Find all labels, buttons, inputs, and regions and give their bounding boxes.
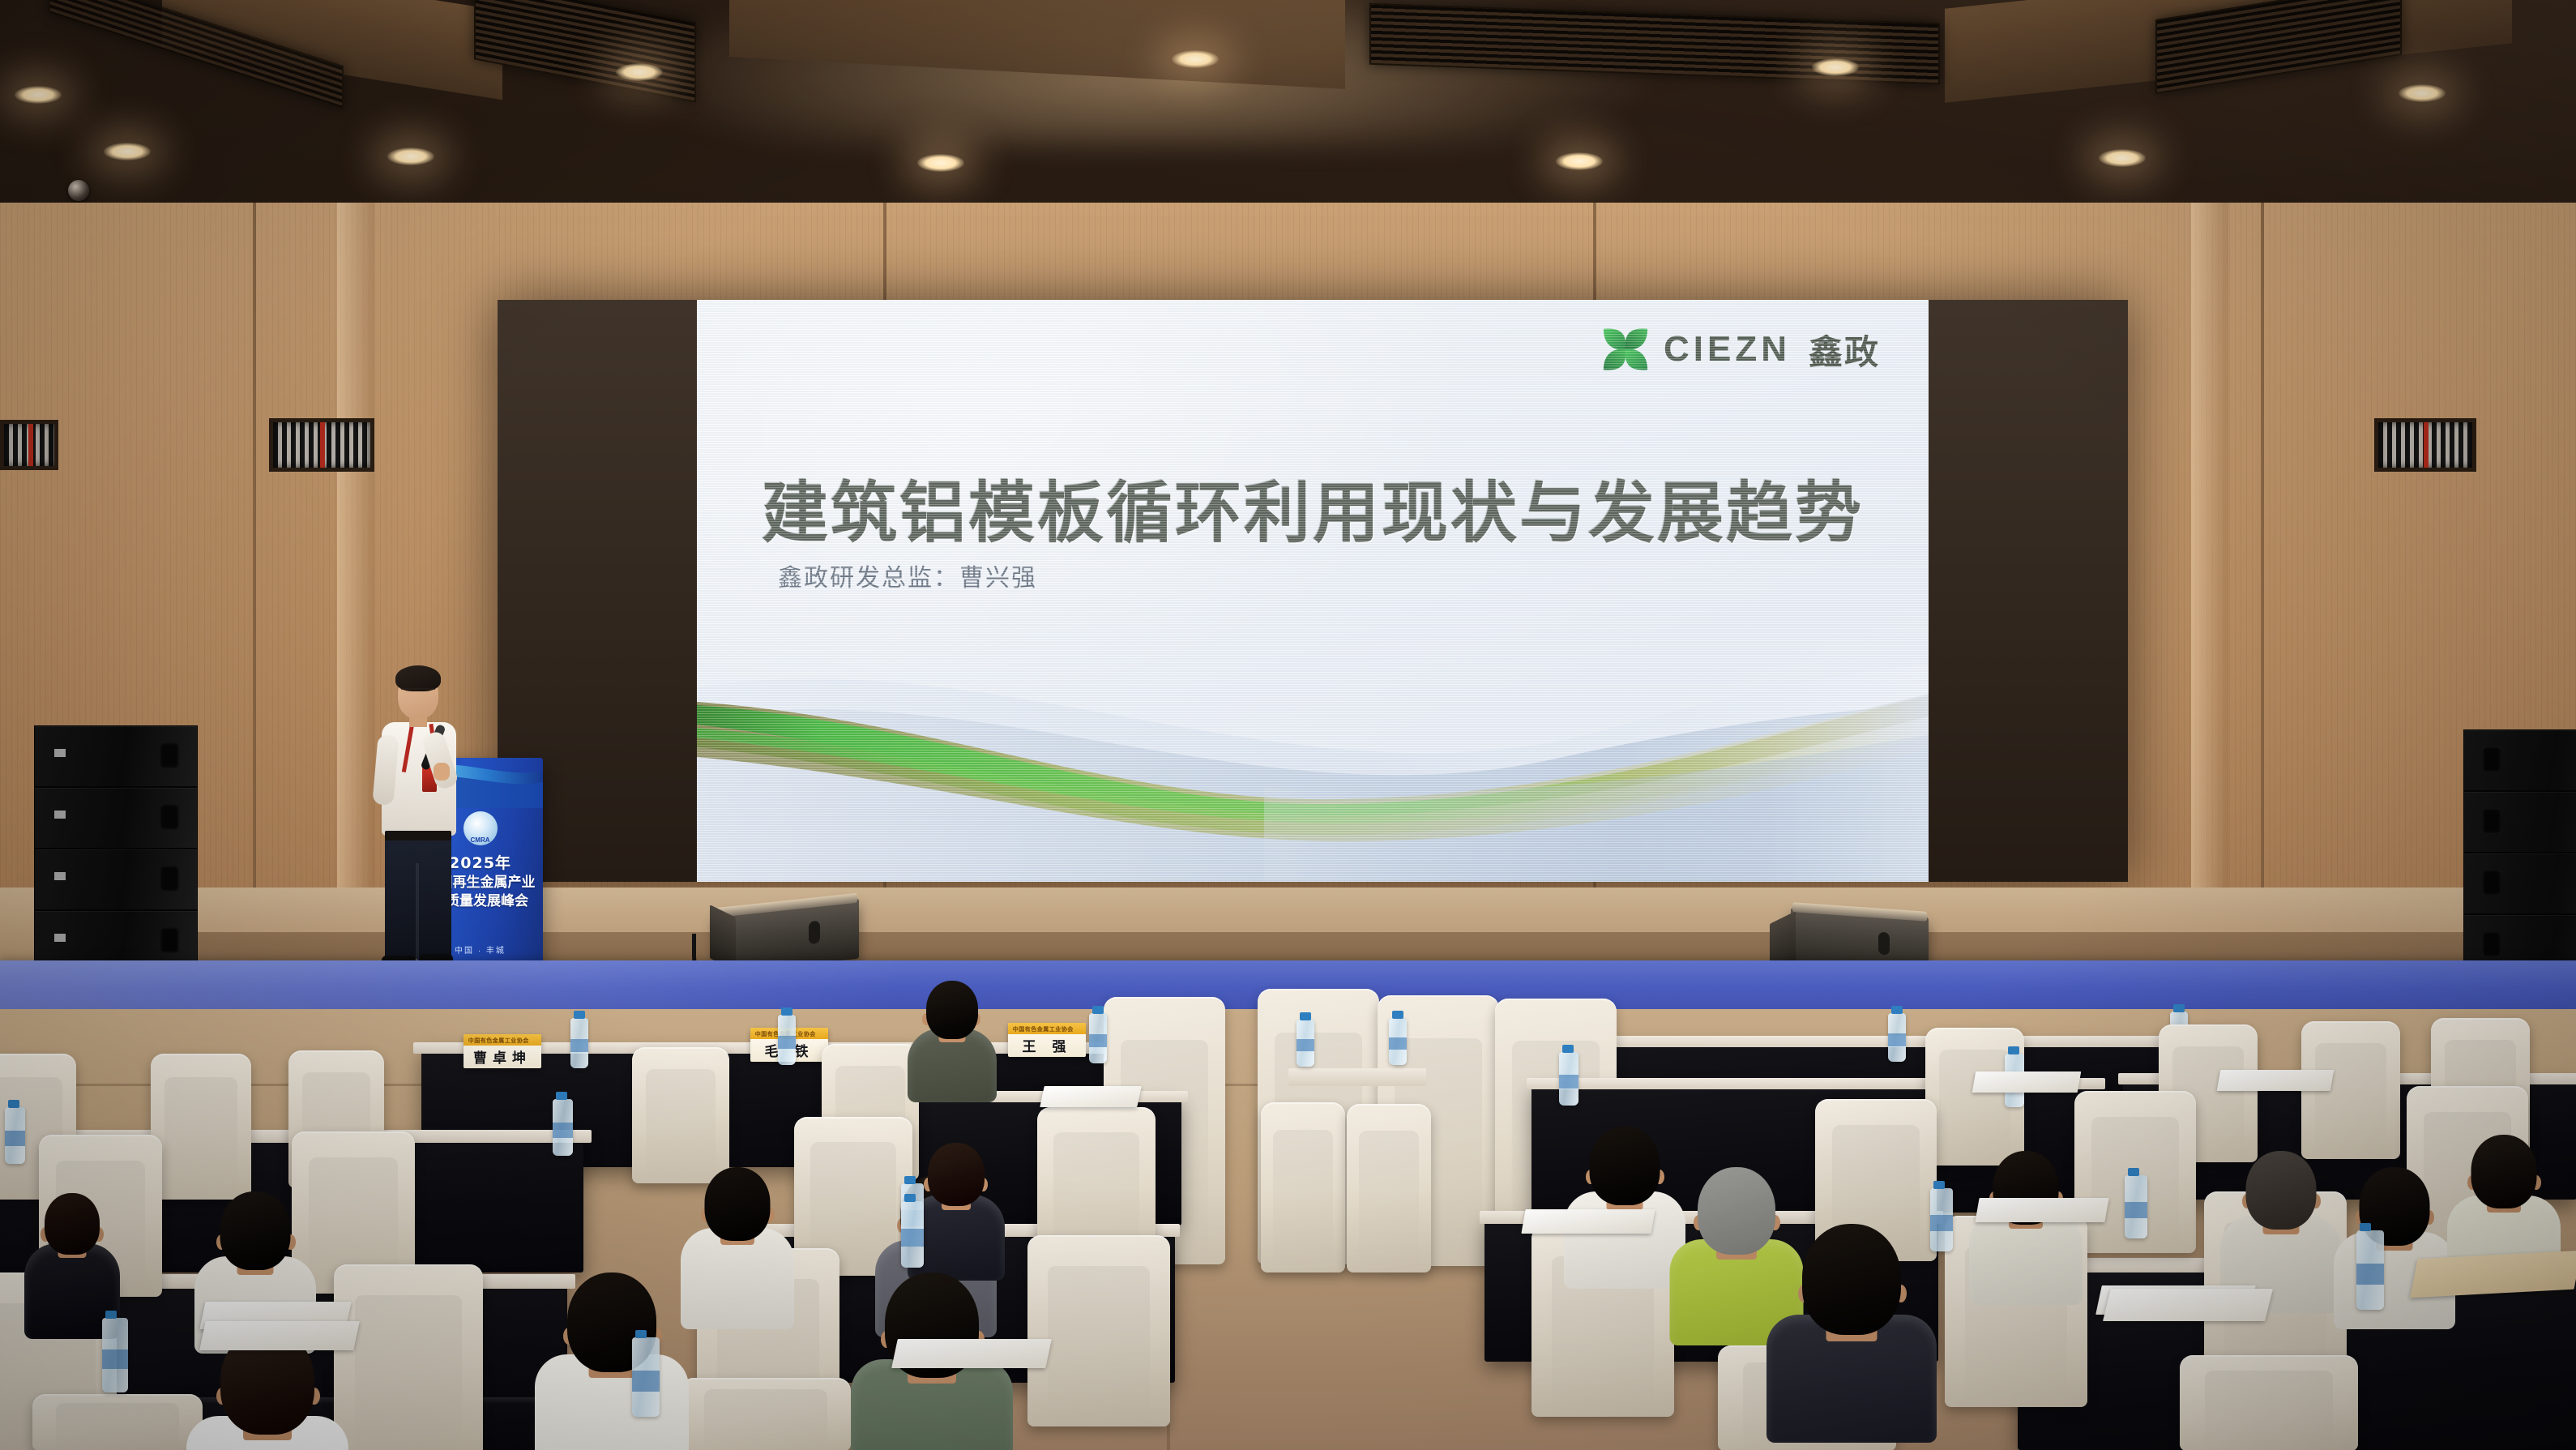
water-bottle[interactable] (901, 1201, 924, 1268)
bottle-cap (556, 1092, 567, 1100)
speaker-port (2482, 746, 2501, 772)
wall-vent-red-strip (2424, 422, 2429, 468)
audience-person (2334, 1167, 2455, 1329)
document-paper[interactable] (2103, 1289, 2273, 1321)
water-bottle[interactable] (2356, 1230, 2384, 1310)
water-bottle[interactable] (553, 1099, 573, 1156)
speaker-cabinet (2463, 853, 2576, 914)
bottle-label (102, 1349, 128, 1369)
screen-side-panel-right (1929, 300, 2128, 882)
bottle-cap (574, 1011, 585, 1019)
presentation-slide: CIEZN 鑫政 建筑铝模板循环利用现状与发展趋势 鑫政研发总监：曹兴强 (697, 300, 1929, 882)
person-head (1802, 1224, 1901, 1335)
speaker-badge (54, 934, 66, 942)
speaker-cabinet (2463, 791, 2576, 853)
wall-vent-red-strip (28, 424, 33, 466)
water-bottle[interactable] (632, 1337, 660, 1417)
presenter-hand (434, 763, 450, 781)
nameplate-org-bar: 中国有色金属工业协会 (1008, 1023, 1086, 1034)
document-paper[interactable] (199, 1321, 360, 1350)
slide-title: 建筑铝模板循环利用现状与发展趋势 (697, 459, 1929, 555)
bottle-cap (2008, 1046, 2019, 1054)
nameplate-org-bar: 中国有色金属工业协会 (464, 1034, 541, 1046)
water-bottle[interactable] (1089, 1013, 1107, 1063)
slide-brand-logo: CIEZN 鑫政 (1600, 324, 1880, 374)
speaker-cabinet (34, 849, 198, 910)
person-head (705, 1167, 771, 1241)
ceiling-downlight-10 (2399, 84, 2446, 102)
speaker-port (2482, 931, 2501, 957)
slide-logo-wordmark-cn: 鑫政 (1809, 325, 1880, 374)
nameplate-1: 中国有色金属工业协会 曹卓坤 (464, 1034, 541, 1068)
water-bottle[interactable] (1297, 1020, 1314, 1067)
document-paper[interactable] (1972, 1071, 2082, 1093)
led-screen-frame: CIEZN 鑫政 建筑铝模板循环利用现状与发展趋势 鑫政研发总监：曹兴强 (498, 300, 2128, 882)
wall-seam-4 (2261, 203, 2264, 981)
slide-wave-graphic (697, 614, 1929, 882)
audience-chair[interactable] (1027, 1235, 1170, 1426)
audience-chair[interactable] (334, 1264, 483, 1450)
nameplate-org: 中国有色金属工业协会 (468, 1037, 529, 1045)
cmra-logo-text: CMRA (464, 836, 498, 844)
bottle-label (570, 1039, 588, 1052)
wall-seam-1 (253, 203, 256, 981)
bottle-label (1888, 1033, 1906, 1046)
document-paper[interactable] (1040, 1086, 1142, 1107)
audience-chair[interactable] (632, 1047, 729, 1183)
lounge-chair-4[interactable] (1347, 1104, 1431, 1272)
speaker-port (160, 927, 179, 953)
person-head (1698, 1167, 1775, 1255)
speaker-badge (54, 872, 66, 880)
bottle-label (1297, 1039, 1314, 1051)
monitor-handle (1878, 932, 1890, 956)
presenter-leg-split (416, 863, 419, 959)
document-paper[interactable] (1521, 1209, 1655, 1234)
bottle-cap (904, 1194, 916, 1202)
water-bottle[interactable] (1559, 1052, 1578, 1106)
ceiling-downlight-3 (387, 148, 434, 165)
document-paper[interactable] (1975, 1198, 2108, 1222)
coffee-table-center (1288, 1068, 1426, 1086)
water-bottle[interactable] (102, 1318, 128, 1392)
ceiling-downlight-6 (1172, 50, 1219, 68)
bottle-label (632, 1371, 660, 1391)
person-head (928, 1143, 985, 1206)
bottle-label (2356, 1264, 2384, 1284)
person-head (220, 1191, 291, 1270)
audience-person (908, 981, 997, 1102)
ceiling-downlight-8 (1812, 58, 1859, 76)
line-array-speaker-right (2463, 729, 2576, 981)
bottle-cap (1092, 1006, 1104, 1014)
ceiling-downlight-7 (1556, 152, 1603, 170)
water-bottle[interactable] (1930, 1188, 1953, 1251)
water-bottle[interactable] (778, 1015, 796, 1065)
bottle-label (5, 1131, 25, 1145)
line-array-speaker-left (34, 725, 196, 977)
audience-person (1564, 1127, 1685, 1289)
person-head (45, 1193, 100, 1255)
wall-vent-left (269, 418, 374, 472)
audience-person (1969, 1151, 2083, 1305)
person-head (1590, 1127, 1660, 1205)
bottle-label (1559, 1075, 1578, 1089)
audience-chair[interactable] (32, 1394, 203, 1450)
ceiling-downlight-9 (2099, 149, 2146, 167)
person-head (926, 981, 978, 1039)
water-bottle[interactable] (2125, 1175, 2147, 1238)
bottle-cap (2173, 1004, 2185, 1012)
bottle-cap (1300, 1012, 1311, 1020)
wall-pilaster-right (2191, 203, 2228, 981)
bottle-cap (904, 1176, 916, 1184)
audience-person (681, 1167, 794, 1329)
surveillance-camera-dome (68, 180, 89, 201)
monitor-handle (809, 921, 820, 944)
speaker-cabinet (34, 725, 198, 787)
speaker-cabinet (34, 787, 198, 849)
nameplate-name: 曹卓坤 (464, 1046, 541, 1067)
document-paper[interactable] (891, 1339, 1052, 1368)
ciezn-leaf-mark-icon (1600, 324, 1651, 374)
wall-vent-red-strip (320, 422, 325, 468)
bottle-label (901, 1229, 924, 1246)
water-bottle[interactable] (1389, 1018, 1407, 1065)
water-bottle[interactable] (5, 1107, 25, 1164)
table-top-front-right (1509, 1036, 2251, 1047)
speaker-port (160, 866, 179, 892)
ceiling-downlight-5 (917, 154, 964, 172)
bottle-label (1089, 1034, 1107, 1047)
speaker-badge (54, 811, 66, 819)
bottle-cap (8, 1100, 19, 1108)
water-bottle[interactable] (570, 1018, 588, 1068)
ceiling-downlight-1 (15, 86, 62, 104)
bottle-cap (1392, 1011, 1403, 1019)
bottle-cap (1891, 1006, 1903, 1014)
water-bottle[interactable] (1888, 1013, 1906, 1062)
conference-hall-photo: CIEZN 鑫政 建筑铝模板循环利用现状与发展趋势 鑫政研发总监：曹兴强 (0, 0, 2576, 1450)
cmra-logo-icon: CMRA (464, 811, 498, 845)
audience-chair[interactable] (151, 1054, 251, 1200)
nameplate-name: 王 强 (1008, 1035, 1086, 1055)
document-paper[interactable] (2217, 1070, 2335, 1091)
bottle-cap (635, 1330, 647, 1338)
speaker-port (160, 804, 179, 830)
bottle-cap (105, 1311, 117, 1319)
bottle-label (1389, 1037, 1407, 1050)
presenter-belt (385, 831, 451, 840)
presenter-glasses (401, 688, 435, 698)
lounge-chair-3[interactable] (1261, 1102, 1345, 1272)
bottle-label (1930, 1215, 1953, 1231)
bottle-label (2125, 1202, 2147, 1218)
bottle-label (553, 1123, 573, 1137)
person-head (2246, 1151, 2317, 1230)
speaker-port (2482, 808, 2501, 834)
ceiling-downlight-2 (104, 143, 151, 160)
bottle-cap (1562, 1045, 1574, 1053)
speaker-port (2482, 870, 2501, 896)
bottle-cap (2128, 1168, 2139, 1176)
audience-person (1766, 1224, 1937, 1443)
bottle-cap (1933, 1181, 1945, 1189)
bottle-cap (2360, 1223, 2371, 1231)
audience-chair[interactable] (2180, 1355, 2358, 1450)
speaker-cabinet (2463, 729, 2576, 791)
nameplate-org: 中国有色金属工业协会 (1013, 1025, 1074, 1033)
presenter (369, 661, 466, 973)
slide-subtitle: 鑫政研发总监：曹兴强 (778, 558, 1037, 593)
slide-logo-wordmark: CIEZN (1664, 329, 1791, 370)
speaker-badge (54, 749, 66, 757)
nameplate-3: 中国有色金属工业协会 王 强 (1008, 1023, 1086, 1057)
wall-vent-far-left (0, 420, 58, 470)
bottle-cap (781, 1007, 792, 1016)
ceiling-downlight-4 (616, 63, 663, 81)
speaker-port (160, 742, 179, 768)
person-head (2471, 1135, 2537, 1208)
audience-chair[interactable] (681, 1378, 851, 1450)
bottle-label (778, 1036, 796, 1049)
audience-person (535, 1272, 689, 1450)
wall-vent-right (2374, 418, 2476, 472)
